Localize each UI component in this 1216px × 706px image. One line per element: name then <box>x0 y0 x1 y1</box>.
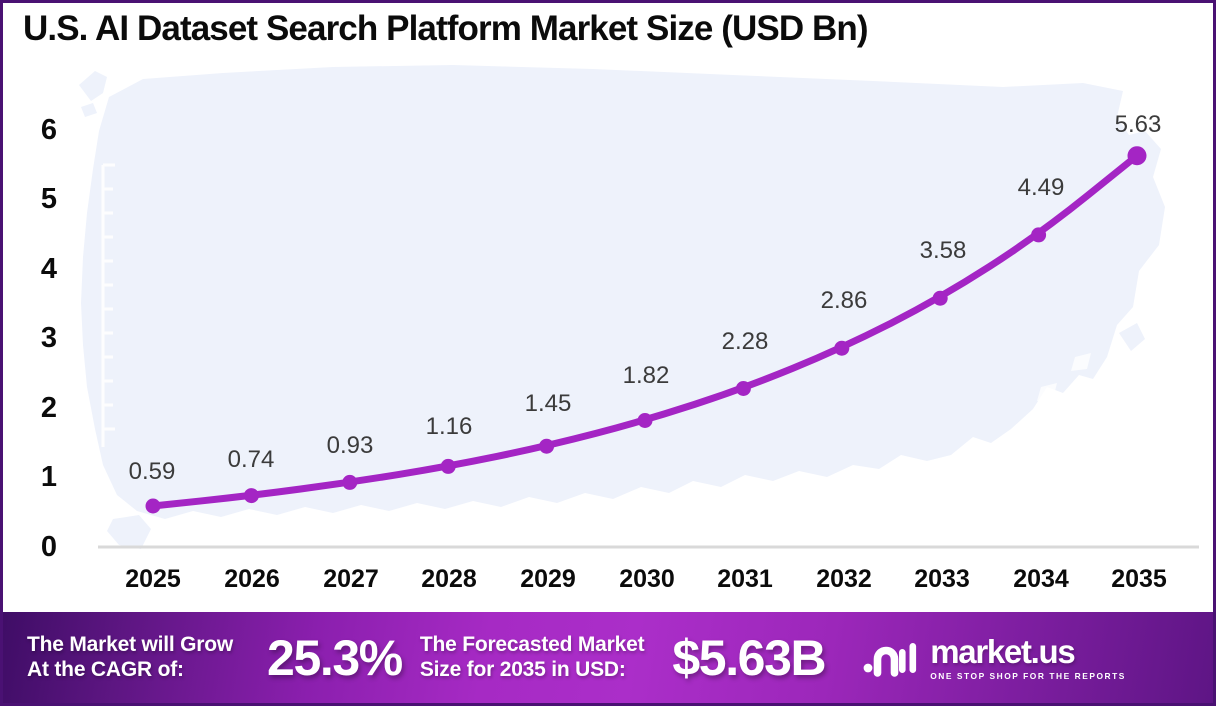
data-point-label: 3.58 <box>898 237 988 265</box>
series-marker <box>146 499 161 514</box>
y-tick-label: 4 <box>11 253 57 286</box>
forecast-label-line2: Size for 2035 in USD: <box>420 658 645 683</box>
chart-plot-area: 6 5 4 3 2 1 0 0.59 0.74 0.93 1.16 1.45 1… <box>3 65 1213 613</box>
x-tick-label-2031: 2031 <box>690 565 800 594</box>
cagr-value: 25.3% <box>267 629 402 687</box>
series-marker <box>933 291 948 306</box>
series-marker <box>1128 146 1147 165</box>
data-point-label: 1.16 <box>404 413 494 441</box>
data-point-label: 1.82 <box>601 362 691 390</box>
y-tick-label: 2 <box>11 392 57 425</box>
logo-text-block: market.us ONE STOP SHOP FOR THE REPORTS <box>930 635 1126 681</box>
y-tick-label: 1 <box>11 461 57 494</box>
series-marker <box>342 475 357 490</box>
x-tick-label-2026: 2026 <box>197 565 307 594</box>
y-tick-label: 5 <box>11 183 57 216</box>
x-tick-label-2033: 2033 <box>887 565 997 594</box>
x-tick-label-2027: 2027 <box>296 565 406 594</box>
summary-banner: The Market will Grow At the CAGR of: 25.… <box>3 612 1213 703</box>
x-tick-label-2029: 2029 <box>493 565 603 594</box>
series-marker <box>539 439 554 454</box>
cagr-label-line2: At the CAGR of: <box>27 658 233 683</box>
cagr-label: The Market will Grow At the CAGR of: <box>27 633 233 683</box>
data-point-label: 5.63 <box>1093 111 1183 139</box>
series-marker <box>638 413 653 428</box>
data-point-label: 0.74 <box>206 446 296 474</box>
cagr-label-line1: The Market will Grow <box>27 633 233 658</box>
forecast-label: The Forecasted Market Size for 2035 in U… <box>420 633 645 683</box>
series-marker <box>244 488 259 503</box>
data-point-label: 4.49 <box>996 174 1086 202</box>
x-tick-label-2030: 2030 <box>592 565 702 594</box>
market-us-logo-icon <box>863 637 919 679</box>
data-point-label: 2.28 <box>700 328 790 356</box>
data-point-label: 0.93 <box>305 432 395 460</box>
data-point-label: 0.59 <box>107 458 197 486</box>
x-tick-label-2032: 2032 <box>789 565 899 594</box>
series-marker <box>441 459 456 474</box>
data-point-label: 1.45 <box>503 390 593 418</box>
y-tick-label: 3 <box>11 322 57 355</box>
series-marker <box>736 381 751 396</box>
y-tick-label: 0 <box>11 531 57 564</box>
x-tick-label-2035: 2035 <box>1084 565 1194 594</box>
data-point-label: 2.86 <box>799 287 889 315</box>
forecast-label-line1: The Forecasted Market <box>420 633 645 658</box>
series-marker <box>1031 227 1046 242</box>
forecast-value: $5.63B <box>672 629 825 687</box>
x-tick-label-2034: 2034 <box>986 565 1096 594</box>
series-line <box>153 156 1137 506</box>
series-marker <box>834 341 849 356</box>
logo-tagline: ONE STOP SHOP FOR THE REPORTS <box>930 671 1126 681</box>
market-us-logo[interactable]: market.us ONE STOP SHOP FOR THE REPORTS <box>863 635 1126 681</box>
x-tick-label-2028: 2028 <box>394 565 504 594</box>
x-tick-label-2025: 2025 <box>98 565 208 594</box>
y-tick-label: 6 <box>11 114 57 147</box>
line-series <box>3 65 1213 613</box>
page-title: U.S. AI Dataset Search Platform Market S… <box>23 9 1203 49</box>
logo-name: market.us <box>930 635 1126 668</box>
chart-infographic: U.S. AI Dataset Search Platform Market S… <box>0 0 1216 706</box>
